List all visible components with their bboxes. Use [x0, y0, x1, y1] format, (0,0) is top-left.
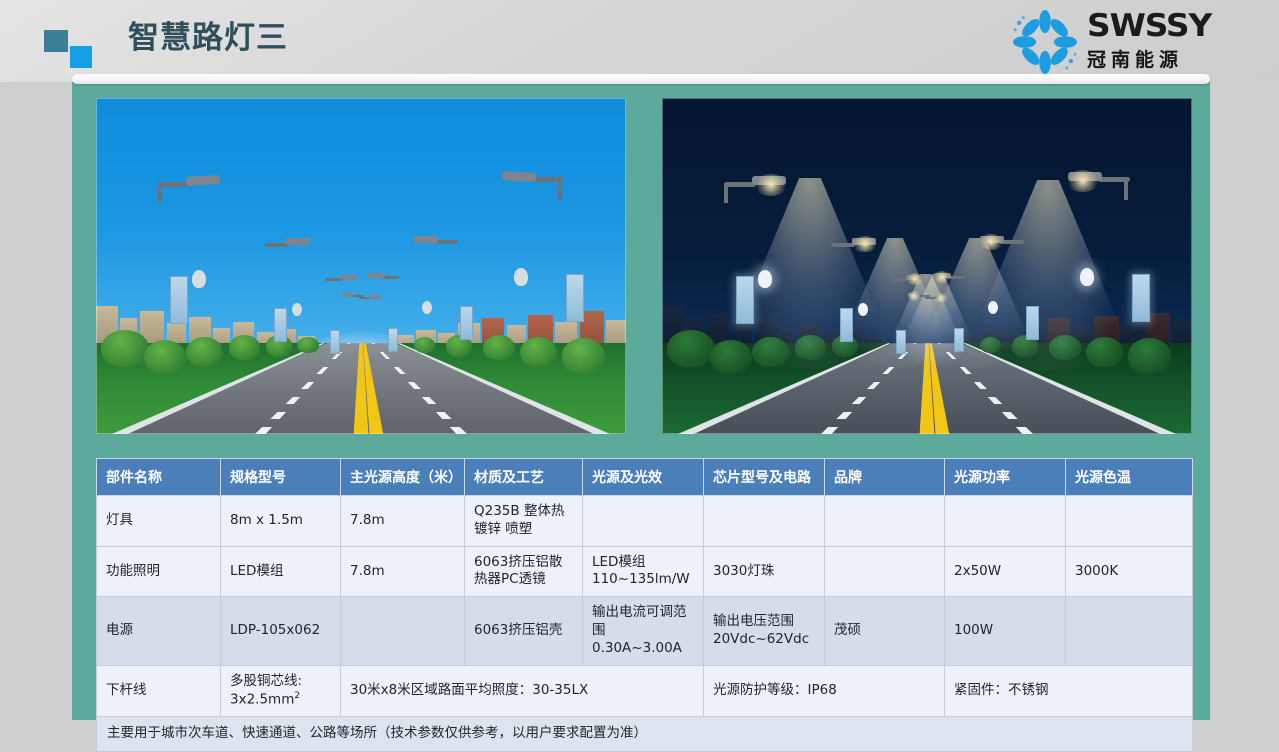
cell-cct — [1066, 496, 1193, 547]
cell-power — [945, 496, 1066, 547]
cell-material: 6063挤压铝散热器PC透镜 — [465, 546, 583, 597]
cell-cable-spec: 多股铜芯线: 3x2.5mm2 — [221, 665, 341, 716]
flower-petal-logo-icon — [1009, 8, 1081, 76]
cell-source-efficacy — [583, 496, 704, 547]
brand-name: SWSSY — [1087, 8, 1211, 44]
cable-line-1: 多股铜芯线: — [230, 673, 302, 689]
cable-unit-exponent: 2 — [294, 691, 300, 701]
col-header-material: 材质及工艺 — [465, 459, 583, 496]
cable-line-2: 3x2.5mm — [230, 691, 294, 707]
cell-material: Q235B 整体热镀锌 喷塑 — [465, 496, 583, 547]
cell-part-name: 灯具 — [97, 496, 221, 547]
cell-light-height: 7.8m — [341, 546, 465, 597]
cell-cct: 3000K — [1066, 546, 1193, 597]
col-header-part-name: 部件名称 — [97, 459, 221, 496]
header-divider-bar — [72, 74, 1210, 84]
cell-source-efficacy: LED模组 110~135lm/W — [583, 546, 704, 597]
col-header-cct: 光源色温 — [1066, 459, 1193, 496]
daytime-streetlight-image — [96, 98, 626, 434]
col-header-brand: 品牌 — [825, 459, 945, 496]
specification-table-wrapper: 部件名称 规格型号 主光源高度（米） 材质及工艺 光源及光效 芯片型号及电路 品… — [96, 458, 1192, 752]
table-row: 下杆线 多股铜芯线: 3x2.5mm2 30米x8米区域路面平均照度：30-35… — [97, 665, 1193, 716]
cell-fastener: 紧固件：不锈钢 — [945, 665, 1193, 716]
col-header-source-efficacy: 光源及光效 — [583, 459, 704, 496]
cell-protection-rating: 光源防护等级：IP68 — [704, 665, 945, 716]
brand-name-cn: 冠南能源 — [1087, 45, 1204, 72]
cell-chip-circuit: 输出电压范围20Vdc~62Vdc — [704, 597, 825, 665]
cell-light-height: 7.8m — [341, 496, 465, 547]
decor-square-dark-icon — [44, 30, 68, 52]
col-header-chip-circuit: 芯片型号及电路 — [704, 459, 825, 496]
cell-source-efficacy: 输出电流可调范围0.30A~3.00A — [583, 597, 704, 665]
cell-brand: 茂硕 — [825, 597, 945, 665]
cell-chip-circuit — [704, 496, 825, 547]
cell-model: LDP-105x062 — [221, 597, 341, 665]
cell-power: 2x50W — [945, 546, 1066, 597]
cell-illuminance: 30米x8米区域路面平均照度：30-35LX — [341, 665, 704, 716]
specification-table: 部件名称 规格型号 主光源高度（米） 材质及工艺 光源及光效 芯片型号及电路 品… — [96, 458, 1193, 752]
cell-chip-circuit: 3030灯珠 — [704, 546, 825, 597]
cell-cct — [1066, 597, 1193, 665]
cell-part-name: 下杆线 — [97, 665, 221, 716]
cell-part-name: 电源 — [97, 597, 221, 665]
cell-material: 6063挤压铝壳 — [465, 597, 583, 665]
col-header-light-height: 主光源高度（米） — [341, 459, 465, 496]
cell-power: 100W — [945, 597, 1066, 665]
cell-model: LED模组 — [221, 546, 341, 597]
table-row: 电源 LDP-105x062 6063挤压铝壳 输出电流可调范围0.30A~3.… — [97, 597, 1193, 665]
cell-brand — [825, 546, 945, 597]
decor-square-light-icon — [70, 46, 92, 68]
table-row: 功能照明 LED模组 7.8m 6063挤压铝散热器PC透镜 LED模组 110… — [97, 546, 1193, 597]
decorative-squares — [44, 30, 100, 66]
table-note-row: 主要用于城市次车道、快速通道、公路等场所（技术参数仅供参考，以用户要求配置为准） — [97, 716, 1193, 751]
cell-part-name: 功能照明 — [97, 546, 221, 597]
cell-brand — [825, 496, 945, 547]
nighttime-streetlight-image — [662, 98, 1192, 434]
table-row: 灯具 8m x 1.5m 7.8m Q235B 整体热镀锌 喷塑 — [97, 496, 1193, 547]
page-title: 智慧路灯三 — [128, 20, 288, 57]
brand-text-block: SWSSY 冠南能源 — [1087, 8, 1204, 72]
cell-light-height — [341, 597, 465, 665]
brand-logo: SWSSY 冠南能源 — [1009, 6, 1261, 78]
cell-model: 8m x 1.5m — [221, 496, 341, 547]
table-header-row: 部件名称 规格型号 主光源高度（米） 材质及工艺 光源及光效 芯片型号及电路 品… — [97, 459, 1193, 496]
content-panel: 部件名称 规格型号 主光源高度（米） 材质及工艺 光源及光效 芯片型号及电路 品… — [72, 82, 1210, 720]
table-footnote: 主要用于城市次车道、快速通道、公路等场所（技术参数仅供参考，以用户要求配置为准） — [97, 716, 1193, 751]
col-header-power: 光源功率 — [945, 459, 1066, 496]
slide-root: 智慧路灯三 — [0, 0, 1279, 720]
col-header-model: 规格型号 — [221, 459, 341, 496]
